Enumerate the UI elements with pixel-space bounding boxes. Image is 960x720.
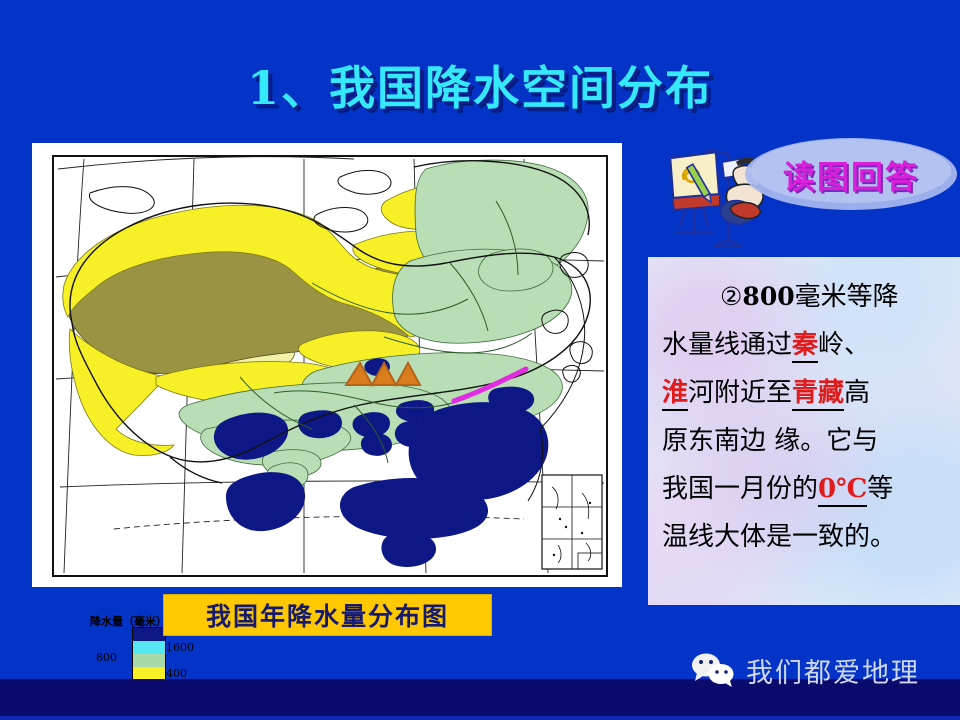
answer-blank-qingzang: 青藏 [792,378,844,411]
question-textbox: ②800毫米等降 水量线通过秦岭、 淮河附近至青藏高 原东南边 缘。它与 我国一… [648,257,960,605]
question-line-2: 水量线通过秦岭、 [662,321,946,369]
speech-bubble: 读图回答 [742,136,960,214]
watermark-text: 我们都爱地理 [746,651,920,690]
question-text-2b: 岭、 [818,330,870,360]
wechat-icon [690,652,736,688]
legend-title: 降水量（毫米） [90,613,167,629]
answer-huai: 淮 [662,378,688,408]
china-precipitation-map [54,157,606,575]
question-line-6: 温线大体是一致的。 [662,513,946,561]
question-text-3a: 河附近至 [688,378,792,408]
answer-zero-deg: 0℃ [818,474,867,504]
question-text-5b: 等 [867,474,893,504]
question-line-1: ②800毫米等降 [662,273,946,321]
question-text-2a: 水量线通过 [662,330,792,360]
slide-root: 1、我国降水空间分布 [0,0,960,720]
answer-blank-zero-deg: 0℃ [818,474,867,507]
question-marker: ② [720,273,742,321]
legend-swatch-1600plus [133,628,165,641]
answer-qingzang: 青藏 [792,378,844,408]
question-number: 800 [742,282,794,311]
legend-label-1600: 1600 [166,641,194,654]
map-caption: 我国年降水量分布图 [163,594,492,636]
legend-swatch-1600 [133,641,165,654]
map-panel: 降水量（毫米） 1600 400 50 800 200 [32,143,622,587]
answer-blank-huai: 淮 [662,378,688,411]
page-title: 1、我国降水空间分布 [0,52,960,118]
answer-qinling: 秦 [792,330,818,360]
answer-blank-qinling: 秦 [792,330,818,363]
legend-swatch-800 [133,654,165,667]
speech-bubble-text: 读图回答 [742,136,960,214]
question-text-3b: 高 [844,378,870,408]
inset-map [542,475,602,569]
question-text-1: 毫米等降 [795,282,899,312]
map-frame[interactable] [52,155,608,577]
question-line-3: 淮河附近至青藏高 [662,369,946,417]
qinling-mountain-symbol [346,363,420,385]
watermark: 我们都爱地理 [690,650,920,690]
question-line-4: 原东南边 缘。它与 [662,417,946,465]
question-text-5a: 我国一月份的 [662,474,818,504]
legend-label-800: 800 [96,651,117,664]
question-line-5: 我国一月份的0℃等 [662,465,946,513]
